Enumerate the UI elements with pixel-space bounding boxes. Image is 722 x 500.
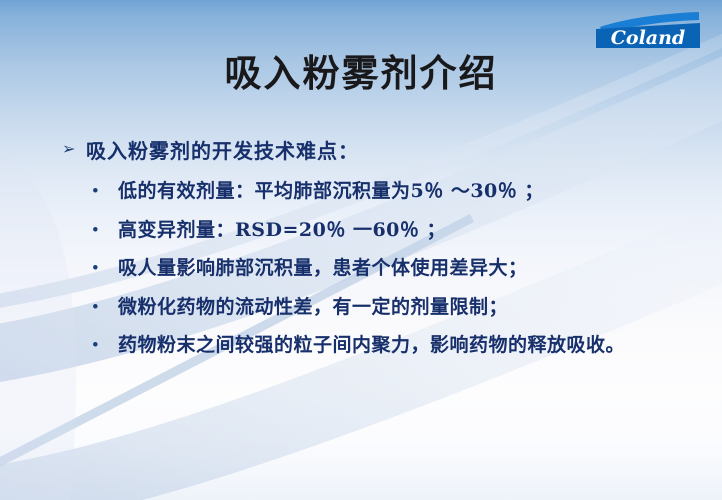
list-item-label: 高变异剂量：RSD=20％ 一60％ ； — [118, 217, 446, 245]
list-item: • 药物粉末之间较强的粒子间内聚力，影响药物的释放吸收。 — [0, 332, 722, 360]
logo: Coland — [592, 12, 704, 52]
coland-logo-icon: Coland — [592, 12, 704, 52]
dot-bullet-icon: • — [92, 332, 118, 360]
arrow-bullet-icon: ➢ — [62, 142, 86, 158]
list-item-label: 低的有效剂量：平均肺部沉积量为5％ ～30％ ； — [118, 178, 544, 206]
bullet-list: ➢ 吸入粉雾剂的开发技术难点： • 低的有效剂量：平均肺部沉积量为5％ ～30％… — [0, 138, 722, 371]
dot-bullet-icon: • — [92, 255, 118, 283]
list-item: • 高变异剂量：RSD=20％ 一60％ ； — [0, 217, 722, 245]
list-item-label: 微粉化药物的流动性差，有一定的剂量限制； — [118, 294, 508, 322]
list-item: ➢ 吸入粉雾剂的开发技术难点： — [0, 138, 722, 164]
dot-bullet-icon: • — [92, 217, 118, 245]
list-item-label: 吸人量影响肺部沉积量，患者个体使用差异大； — [118, 255, 528, 283]
dot-bullet-icon: • — [92, 178, 118, 206]
list-item-label: 吸入粉雾剂的开发技术难点： — [86, 138, 359, 164]
page-title: 吸入粉雾剂介绍 — [0, 52, 722, 95]
list-item: • 微粉化药物的流动性差，有一定的剂量限制； — [0, 294, 722, 322]
dot-bullet-icon: • — [92, 294, 118, 322]
list-item: • 低的有效剂量：平均肺部沉积量为5％ ～30％ ； — [0, 178, 722, 206]
list-item-label: 药物粉末之间较强的粒子间内聚力，影响药物的释放吸收。 — [118, 332, 625, 360]
logo-wordmark-text: Coland — [611, 27, 685, 49]
presentation-slide: Coland 吸入粉雾剂介绍 ➢ 吸入粉雾剂的开发技术难点： • 低的有效剂量：… — [0, 0, 722, 500]
list-item: • 吸人量影响肺部沉积量，患者个体使用差异大； — [0, 255, 722, 283]
